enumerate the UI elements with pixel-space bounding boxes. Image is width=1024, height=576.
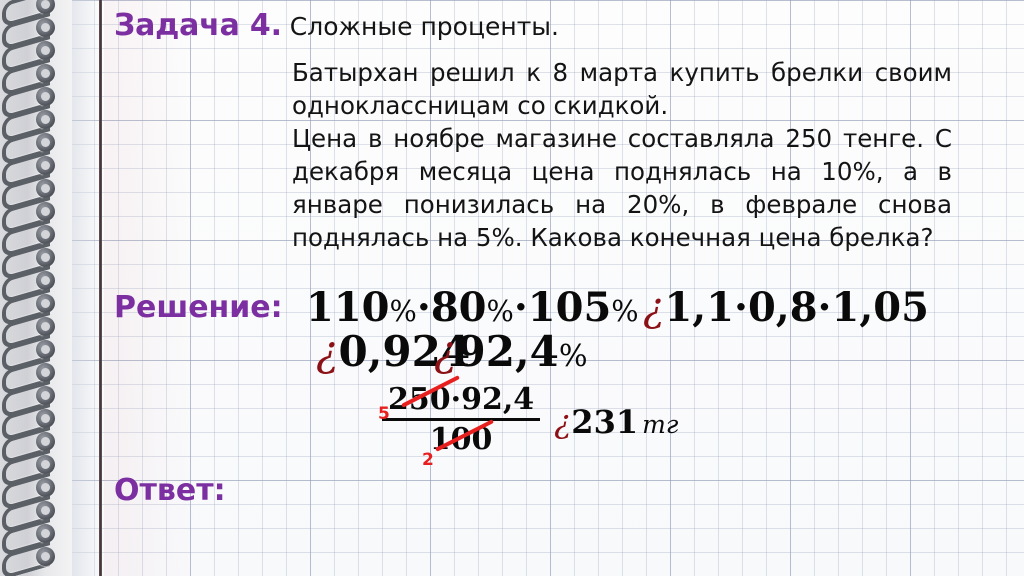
spiral-ring-icon [2,63,68,85]
fraction-result: ¿231тг [554,403,678,441]
paper-gutter [70,0,100,576]
spiral-ring-icon [2,201,68,223]
math-line-1-percent-form: 110%·80%·105% [306,286,639,333]
spiral-ring-icon [2,17,68,39]
problem-paragraph-1: Батырхан решил к 8 марта купить брелки с… [292,56,952,122]
inverted-question-icon-1: ¿ [643,285,664,331]
spiral-ring-icon [2,500,68,522]
dot-2: · [514,284,528,331]
ring-hole [36,179,55,198]
inverted-question-icon-4: ¿ [554,403,571,441]
ring-hole [36,0,55,14]
spiral-ring-icon [2,132,68,154]
spiral-ring-icon [2,293,68,315]
ring-hole [36,202,55,221]
ring-hole [36,41,55,60]
inverted-question-icon-3: ¿ [434,327,457,376]
math-line-1-decimal-form: ¿1,1·0,8·1,05 [643,286,929,330]
spiral-ring-icon [2,86,68,108]
cancel-value-numerator: 5 [378,404,390,424]
ring-hole [36,409,55,428]
ring-hole [36,87,55,106]
ring-hole [36,340,55,359]
ring-hole [36,432,55,451]
spiral-ring-icon [2,546,68,568]
slide-canvas: Задача 4. Сложные проценты. Батырхан реш… [0,0,1024,576]
math-line-product: ¿0,924 ¿92,4% [316,328,1016,378]
inverted-question-icon-2: ¿ [316,327,339,376]
spiral-ring-icon [2,270,68,292]
percent-sign-1: % [390,294,417,328]
spiral-ring-icon [2,155,68,177]
ring-hole [36,271,55,290]
spiral-ring-icon [2,0,68,16]
margin-rule-line [99,0,102,576]
value-105: 105 [528,284,612,331]
spiral-ring-icon [2,109,68,131]
problem-paragraph-2: Цена в ноябре магазине составляла 250 те… [292,122,952,254]
ring-hole [36,478,55,497]
ring-hole [36,501,55,520]
ring-hole [36,524,55,543]
slide-title: Задача 4. Сложные проценты. [114,8,559,43]
spiral-ring-icon [2,178,68,200]
percent-sign-4: % [559,339,588,374]
ring-hole [36,18,55,37]
spiral-ring-icon [2,477,68,499]
ring-hole [36,133,55,152]
spiral-ring-icon [2,385,68,407]
percent-sign-2: % [486,294,513,328]
spiral-ring-icon [2,454,68,476]
spiral-ring-icon [2,431,68,453]
task-topic-label: Сложные проценты. [290,12,559,41]
math-line-2-percent-form: ¿92,4% [434,328,588,381]
ring-hole [36,156,55,175]
decimal-product-1: 1,1·0,8·1,05 [664,284,928,331]
math-line-percents: 110%·80%·105% ¿1,1·0,8·1,05 [306,286,1006,332]
ring-hole [36,225,55,244]
spiral-ring-icon [2,40,68,62]
ring-hole [36,64,55,83]
dot-1: · [417,284,431,331]
value-924-percent: 92,4 [457,327,559,376]
ring-hole [36,110,55,129]
fraction-numerator: 250·92,4 [382,382,540,418]
ring-hole [36,363,55,382]
ring-hole [36,455,55,474]
ring-hole [36,317,55,336]
ring-hole [36,386,55,405]
solution-label: Решение: [114,290,283,325]
fraction: 250·92,4 100 [382,382,540,457]
cancel-value-denominator: 2 [422,450,434,470]
result-number: 231 [571,403,638,441]
spiral-ring-icon [2,339,68,361]
spiral-ring-icon [2,316,68,338]
ring-hole [36,248,55,267]
percent-sign-3: % [611,294,638,328]
problem-statement: Батырхан решил к 8 марта купить брелки с… [292,56,952,254]
spiral-ring-icon [2,408,68,430]
ring-hole [36,294,55,313]
ring-hole [36,547,55,566]
slide-content: Задача 4. Сложные проценты. Батырхан реш… [110,0,1024,576]
spiral-ring-icon [2,247,68,269]
result-unit: тг [642,410,678,439]
value-80: 80 [431,284,487,331]
spiral-binding [0,0,72,576]
answer-label: Ответ: [114,473,226,508]
spiral-ring-icon [2,362,68,384]
value-110: 110 [306,284,390,331]
task-number-label: Задача 4. [114,8,282,43]
spiral-ring-icon [2,523,68,545]
spiral-ring-icon [2,224,68,246]
